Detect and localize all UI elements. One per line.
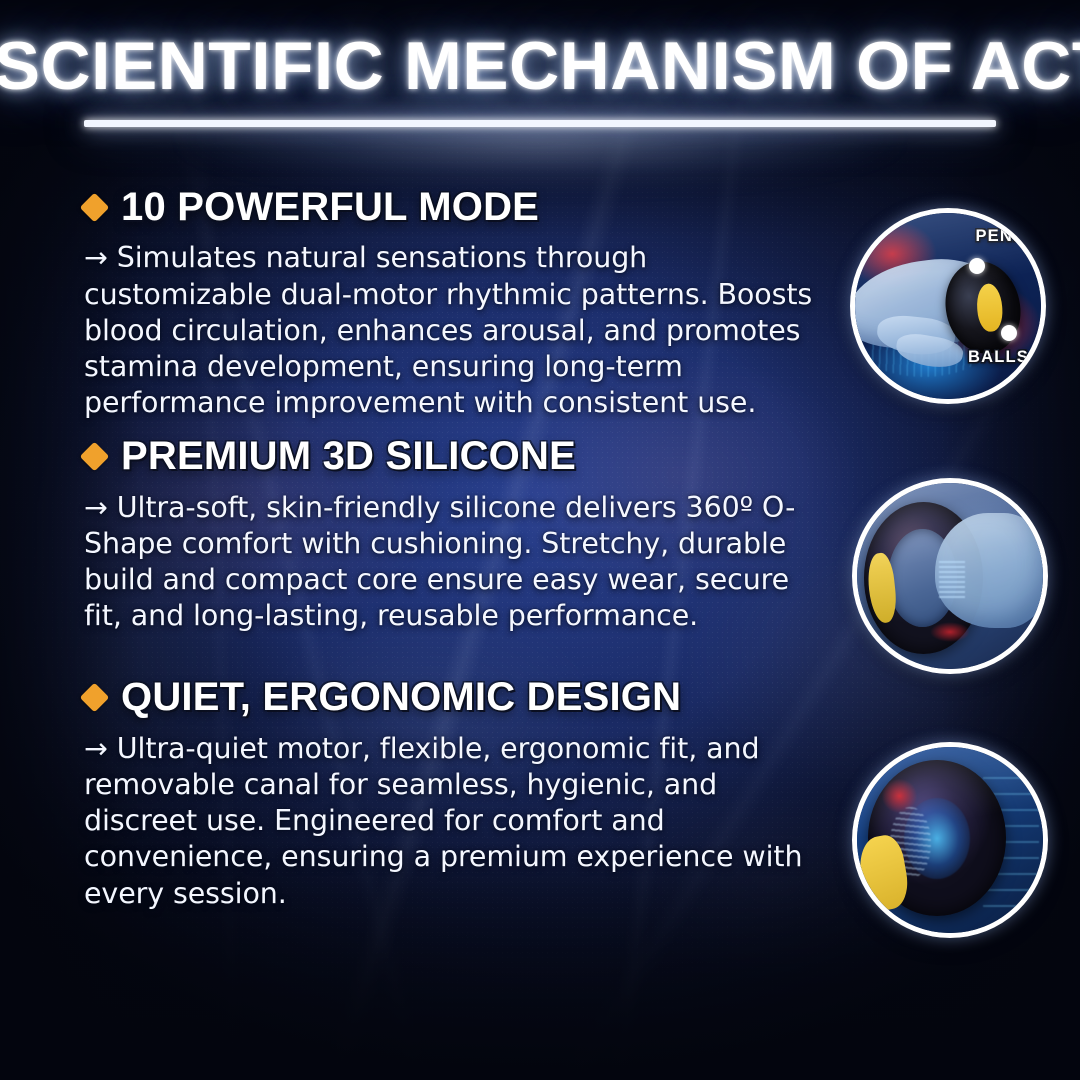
red-accent-glow bbox=[928, 621, 973, 643]
feature-heading-1: 10 POWERFUL MODE bbox=[121, 186, 539, 228]
infographic-poster: SCIENTIFIC MECHANISM OF ACTION 10 POWERF… bbox=[0, 0, 1080, 1080]
feature-body-text-2: Ultra-soft, skin-friendly silicone deliv… bbox=[84, 491, 795, 633]
tech-glyph-graphic bbox=[939, 561, 965, 598]
feature-section-1: 10 POWERFUL MODE → Simulates natural sen… bbox=[84, 186, 844, 421]
product-usage-diagram: PENIS BALLS bbox=[850, 208, 1046, 404]
arrow-icon: → bbox=[84, 732, 108, 765]
feature-body-2: → Ultra-soft, skin-friendly silicone del… bbox=[84, 490, 804, 635]
feature-body-3: → Ultra-quiet motor, flexible, ergonomic… bbox=[84, 731, 804, 912]
product-in-hand-photo bbox=[852, 478, 1048, 674]
feature-body-text-3: Ultra-quiet motor, flexible, ergonomic f… bbox=[84, 732, 802, 910]
feature-heading-2: PREMIUM 3D SILICONE bbox=[121, 435, 576, 477]
title-block: SCIENTIFIC MECHANISM OF ACTION bbox=[0, 32, 1080, 100]
diamond-bullet-icon bbox=[80, 683, 110, 713]
feature-heading-row-2: PREMIUM 3D SILICONE bbox=[84, 435, 844, 477]
feature-list: 10 POWERFUL MODE → Simulates natural sen… bbox=[84, 186, 844, 918]
usage-diagram-image: PENIS BALLS bbox=[855, 213, 1041, 399]
callout-dot-balls bbox=[1001, 325, 1017, 341]
page-title: SCIENTIFIC MECHANISM OF ACTION bbox=[0, 32, 1080, 100]
callout-label-balls: BALLS bbox=[968, 348, 1029, 367]
diamond-bullet-icon bbox=[80, 192, 110, 222]
callout-label-penis: PENIS bbox=[975, 227, 1031, 246]
feature-heading-row-3: QUIET, ERGONOMIC DESIGN bbox=[84, 676, 844, 718]
callout-dot-penis bbox=[969, 258, 985, 274]
feature-body-text-1: Simulates natural sensations through cus… bbox=[84, 241, 812, 419]
arrow-icon: → bbox=[84, 241, 108, 274]
feature-body-1: → Simulates natural sensations through c… bbox=[84, 240, 824, 421]
feature-section-2: PREMIUM 3D SILICONE → Ultra-soft, skin-f… bbox=[84, 435, 844, 634]
feature-heading-row-1: 10 POWERFUL MODE bbox=[84, 186, 844, 228]
diamond-bullet-icon bbox=[80, 442, 110, 472]
title-underline bbox=[84, 120, 996, 127]
arrow-icon: → bbox=[84, 491, 108, 524]
feature-section-3: QUIET, ERGONOMIC DESIGN → Ultra-quiet mo… bbox=[84, 676, 844, 911]
product-front-view-photo bbox=[852, 742, 1048, 938]
product-in-hand-image bbox=[857, 483, 1043, 669]
product-front-view-image bbox=[857, 747, 1043, 933]
feature-heading-3: QUIET, ERGONOMIC DESIGN bbox=[121, 676, 681, 718]
